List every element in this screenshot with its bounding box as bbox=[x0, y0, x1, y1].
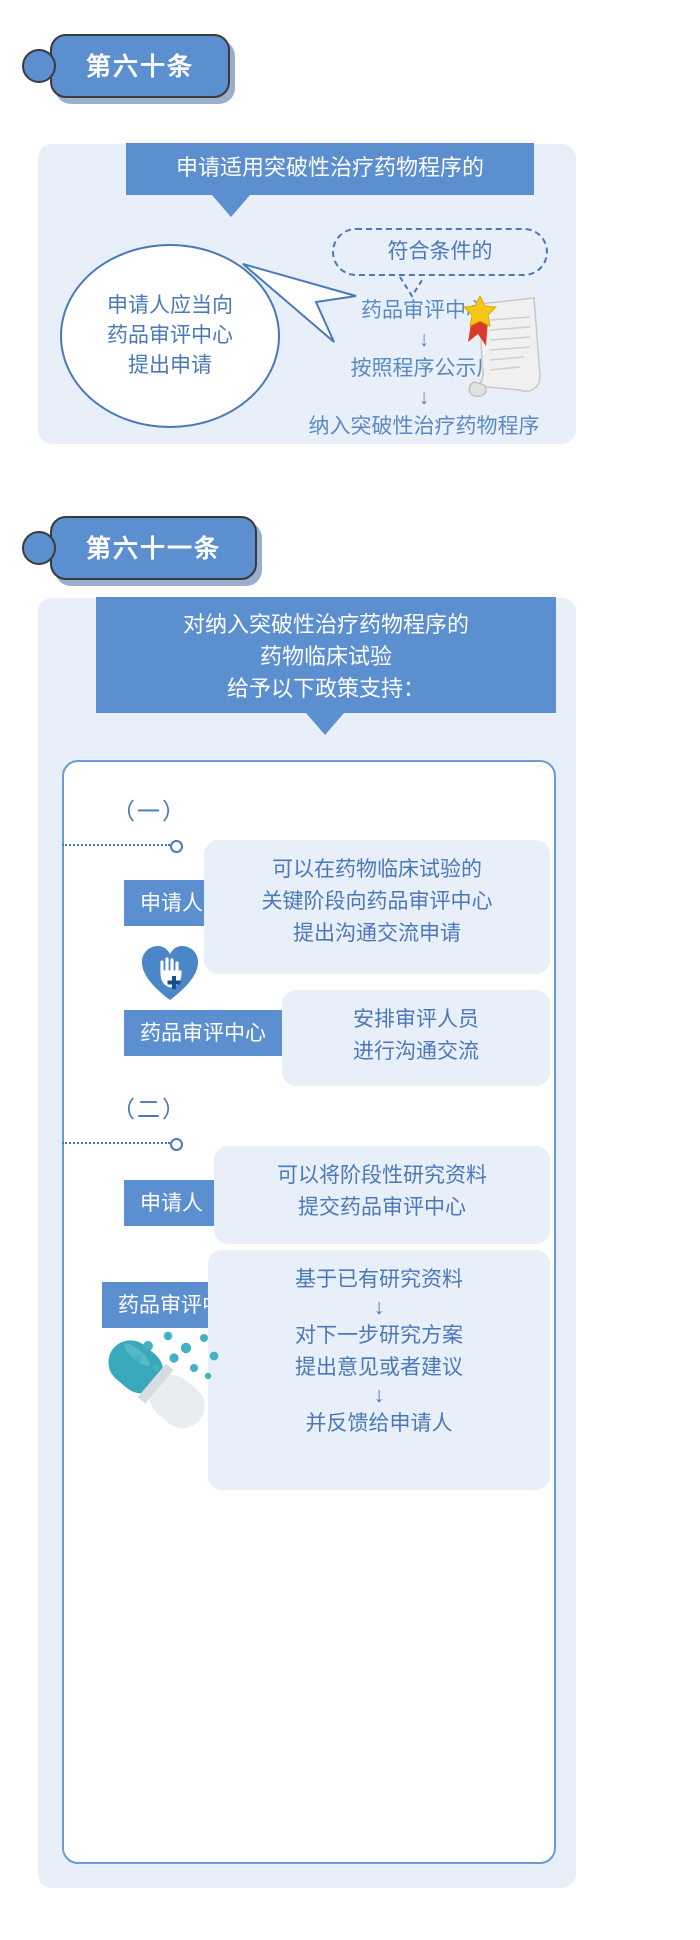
section-header-article-60: 第六十条 bbox=[22, 34, 230, 98]
item-one-dot-end-icon bbox=[170, 840, 183, 853]
bubble-1-2-line-1: 安排审评人员 bbox=[300, 1004, 532, 1036]
bubble-item-two-row-two: 基于已有研究资料 ↓ 对下一步研究方案 提出意见或者建议 ↓ 并反馈给申请人 bbox=[208, 1250, 550, 1490]
ribbon-text-60: 申请适用突破性治疗药物程序的 bbox=[176, 155, 484, 180]
bubble-item-two-row-one: 可以将阶段性研究资料 提交药品审评中心 bbox=[214, 1146, 550, 1244]
section-header-article-61: 第六十一条 bbox=[22, 516, 257, 580]
bubble-1-1-line-3: 提出沟通交流申请 bbox=[222, 918, 532, 950]
bubble-2-2-line-2: 对下一步研究方案 bbox=[226, 1320, 532, 1352]
ribbon-61-tail-icon bbox=[306, 713, 344, 735]
item-two-dot-end-icon bbox=[170, 1138, 183, 1151]
ribbon-61-line-2: 药物临床试验 bbox=[114, 641, 538, 673]
bubble-2-2-arrow-2-icon: ↓ bbox=[226, 1384, 532, 1408]
capsule-pill-icon bbox=[82, 1322, 232, 1442]
bubble-item-one-row-two: 安排审评人员 进行沟通交流 bbox=[282, 990, 550, 1086]
flow-step-3: 纳入突破性治疗药物程序 bbox=[274, 410, 574, 444]
condition-text: 符合条件的 bbox=[388, 240, 493, 263]
ribbon-title-60: 申请适用突破性治疗药物程序的 bbox=[126, 143, 534, 195]
panel-article-61: 对纳入突破性治疗药物程序的 药物临床试验 给予以下政策支持： （一） 申请人 可… bbox=[38, 598, 576, 1888]
condition-dashed-pill: 符合条件的 bbox=[332, 228, 548, 276]
scroll-certificate-icon bbox=[462, 290, 548, 400]
item-label-two: （二） bbox=[112, 1090, 187, 1124]
bubble-1-1-line-2: 关键阶段向药品审评中心 bbox=[222, 886, 532, 918]
bubble-1-2-line-2: 进行沟通交流 bbox=[300, 1036, 532, 1068]
header-dot-icon-2 bbox=[22, 531, 56, 565]
ribbon-tail-icon bbox=[212, 195, 250, 217]
bubble-2-2-line-1: 基于已有研究资料 bbox=[226, 1264, 532, 1296]
ribbon-61-line-3: 给予以下政策支持： bbox=[114, 673, 538, 705]
circle-line-3: 提出申请 bbox=[107, 351, 233, 381]
bubble-2-2-line-3: 提出意见或者建议 bbox=[226, 1352, 532, 1384]
section-badge-article-61[interactable]: 第六十一条 bbox=[50, 516, 257, 580]
bubble-item-one-row-one: 可以在药物临床试验的 关键阶段向药品审评中心 提出沟通交流申请 bbox=[204, 840, 550, 974]
bubble-1-1-line-1: 可以在药物临床试验的 bbox=[222, 854, 532, 886]
item-two-dotted-line bbox=[62, 1142, 170, 1144]
policy-items-card: （一） 申请人 可以在药物临床试验的 关键阶段向药品审评中心 提出沟通交流申请 … bbox=[62, 760, 556, 1864]
section-badge-article-60[interactable]: 第六十条 bbox=[50, 34, 230, 98]
ribbon-title-61: 对纳入突破性治疗药物程序的 药物临床试验 给予以下政策支持： bbox=[96, 597, 556, 713]
bubble-2-1-line-2: 提交药品审评中心 bbox=[232, 1192, 532, 1224]
item-label-one: （一） bbox=[112, 792, 187, 826]
panel-article-60: 申请适用突破性治疗药物程序的 申请人应当向 药品审评中心 提出申请 符合条件的 … bbox=[38, 144, 576, 444]
tag-cde-1: 药品审评中心 bbox=[124, 1010, 282, 1056]
bubble-2-2-line-4: 并反馈给申请人 bbox=[226, 1408, 532, 1440]
tag-applicant-2: 申请人 bbox=[124, 1180, 219, 1226]
ribbon-61-line-1: 对纳入突破性治疗药物程序的 bbox=[114, 609, 538, 641]
bubble-2-1-line-1: 可以将阶段性研究资料 bbox=[232, 1160, 532, 1192]
heart-hand-care-icon bbox=[140, 944, 200, 1002]
item-one-dotted-line bbox=[62, 844, 170, 846]
bubble-2-2-arrow-1-icon: ↓ bbox=[226, 1296, 532, 1320]
circle-line-2: 药品审评中心 bbox=[107, 321, 233, 351]
circle-line-1: 申请人应当向 bbox=[107, 291, 233, 321]
header-dot-icon bbox=[22, 49, 56, 83]
